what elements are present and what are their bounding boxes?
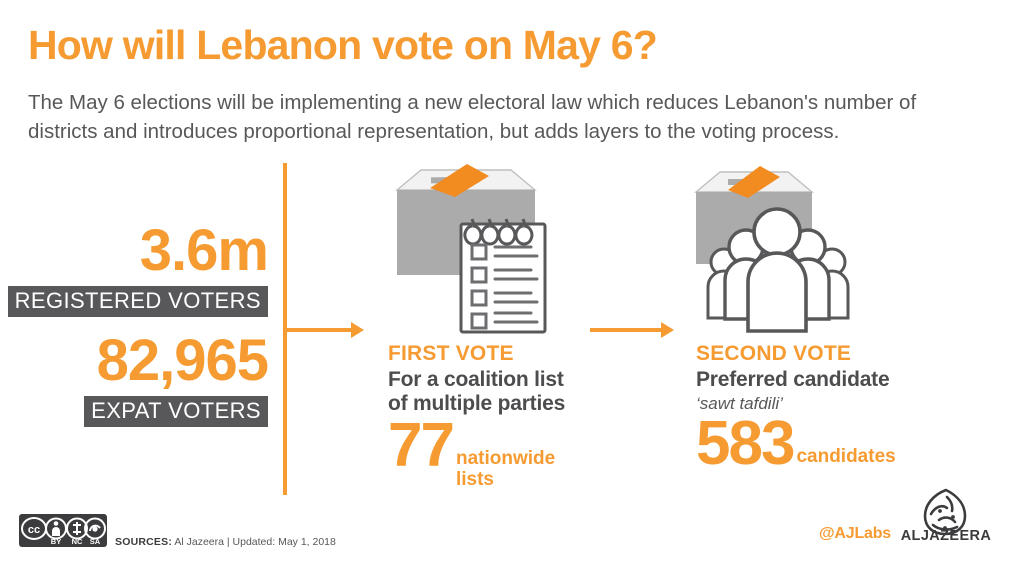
svg-text:SA: SA — [90, 537, 101, 546]
second-vote-description-line1: Preferred candidate — [696, 368, 996, 392]
svg-text:NC: NC — [72, 537, 83, 546]
first-vote-caption-line1: nationwide — [456, 449, 555, 470]
ballot-box-with-checklist-icon — [393, 164, 553, 336]
second-vote-number: 583 — [696, 415, 793, 474]
first-vote-description-line1: For a coalition list — [388, 368, 638, 392]
first-vote-panel: FIRST VOTE For a coalition list of multi… — [388, 342, 638, 492]
page-title: How will Lebanon vote on May 6? — [28, 24, 928, 67]
creative-commons-license-badge: cc BY NC SA — [19, 514, 107, 547]
svg-text:cc: cc — [28, 524, 40, 536]
stat-registered-voters: 3.6m REGISTERED VOTERS — [0, 222, 268, 317]
svg-text:BY: BY — [51, 537, 61, 546]
first-vote-caption-line2: lists — [456, 470, 555, 491]
first-vote-description: For a coalition list of multiple parties — [388, 368, 638, 415]
sources-label: SOURCES: — [115, 536, 172, 548]
ajlabs-handle[interactable]: @AJLabs — [819, 525, 891, 543]
stat-registered-voters-label: REGISTERED VOTERS — [8, 286, 268, 317]
second-vote-figure: 583 candidates — [696, 415, 996, 474]
stat-registered-voters-value: 3.6m — [0, 222, 268, 280]
second-vote-kicker: SECOND VOTE — [696, 342, 996, 365]
first-vote-caption: nationwide lists — [456, 449, 555, 490]
infographic-canvas: How will Lebanon vote on May 6? The May … — [0, 0, 1015, 561]
first-vote-kicker: FIRST VOTE — [388, 342, 638, 365]
ballot-box-with-crowd-icon — [684, 166, 860, 334]
second-vote-panel: SECOND VOTE Preferred candidate ‘sawt ta… — [696, 342, 996, 474]
stat-expat-voters-label: EXPAT VOTERS — [84, 396, 268, 427]
sources-text: Al Jazeera | Updated: May 1, 2018 — [172, 536, 336, 548]
first-vote-number: 77 — [388, 417, 453, 476]
al-jazeera-wordmark: ALJAZEERA — [895, 528, 997, 544]
second-vote-caption-line1: candidates — [796, 447, 895, 468]
sources-line: SOURCES: Al Jazeera | Updated: May 1, 20… — [115, 536, 336, 548]
second-vote-description: Preferred candidate — [696, 368, 996, 392]
first-vote-figure: 77 nationwide lists — [388, 417, 638, 492]
stat-expat-voters: 82,965 EXPAT VOTERS — [0, 332, 268, 427]
stat-expat-voters-value: 82,965 — [0, 332, 268, 390]
second-vote-caption: candidates — [796, 447, 895, 468]
flow-arrow-to-second-vote — [590, 322, 674, 338]
flow-arrow-to-first-vote — [284, 322, 364, 338]
page-standfirst: The May 6 elections will be implementing… — [28, 88, 983, 146]
